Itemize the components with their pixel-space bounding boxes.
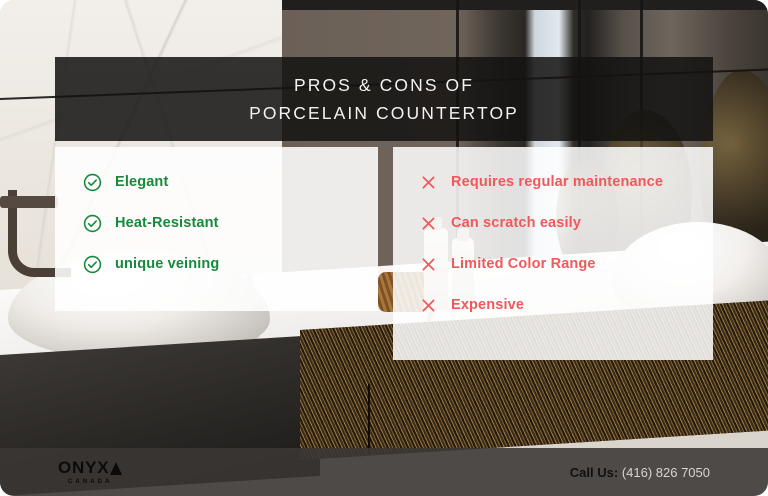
list-item: Can scratch easily <box>419 214 713 233</box>
pros-item-label: Elegant <box>115 175 168 190</box>
pros-card: Elegant Heat-Resistant unique veining <box>55 147 378 311</box>
list-item: Expensive <box>419 296 713 315</box>
list-item: Limited Color Range <box>419 255 713 274</box>
list-item: Requires regular maintenance <box>419 173 713 192</box>
x-mark-icon <box>419 296 438 315</box>
page-title-line-1: PROS & CONS OF <box>294 75 474 96</box>
footer-bar: ONYX CANADA Call Us: (416) 826 7050 <box>0 448 768 496</box>
logo-wordmark: ONYX <box>58 459 122 476</box>
x-mark-icon <box>419 173 438 192</box>
cons-card: Requires regular maintenance Can scratch… <box>393 147 713 360</box>
logo-triangle-a-icon <box>110 462 122 475</box>
cons-item-label: Requires regular maintenance <box>451 175 663 190</box>
call-us-label: Call Us: <box>570 465 618 480</box>
logo-subtitle: CANADA <box>68 479 113 485</box>
list-item: Elegant <box>83 173 378 192</box>
list-item: unique veining <box>83 255 378 274</box>
phone-number[interactable]: (416) 826 7050 <box>622 465 710 480</box>
cons-item-label: Limited Color Range <box>451 257 596 272</box>
brand-logo[interactable]: ONYX CANADA <box>58 459 122 485</box>
x-mark-icon <box>419 214 438 233</box>
page-title-line-2: PORCELAIN COUNTERTOP <box>249 103 519 124</box>
logo-word-text: ONYX <box>58 459 109 476</box>
pros-item-label: Heat-Resistant <box>115 216 219 231</box>
title-banner: PROS & CONS OF PORCELAIN COUNTERTOP <box>55 57 713 141</box>
faucet-spout <box>0 196 58 208</box>
cons-item-label: Can scratch easily <box>451 216 581 231</box>
list-item: Heat-Resistant <box>83 214 378 233</box>
pros-item-label: unique veining <box>115 257 219 272</box>
cons-item-label: Expensive <box>451 298 524 313</box>
check-circle-icon <box>83 255 102 274</box>
check-circle-icon <box>83 214 102 233</box>
x-mark-icon <box>419 255 438 274</box>
check-circle-icon <box>83 173 102 192</box>
cabinet-seam <box>368 384 370 454</box>
contact-info[interactable]: Call Us: (416) 826 7050 <box>570 465 710 480</box>
window-header-trim <box>282 0 768 10</box>
poster-frame: PROS & CONS OF PORCELAIN COUNTERTOP Eleg… <box>0 0 768 496</box>
